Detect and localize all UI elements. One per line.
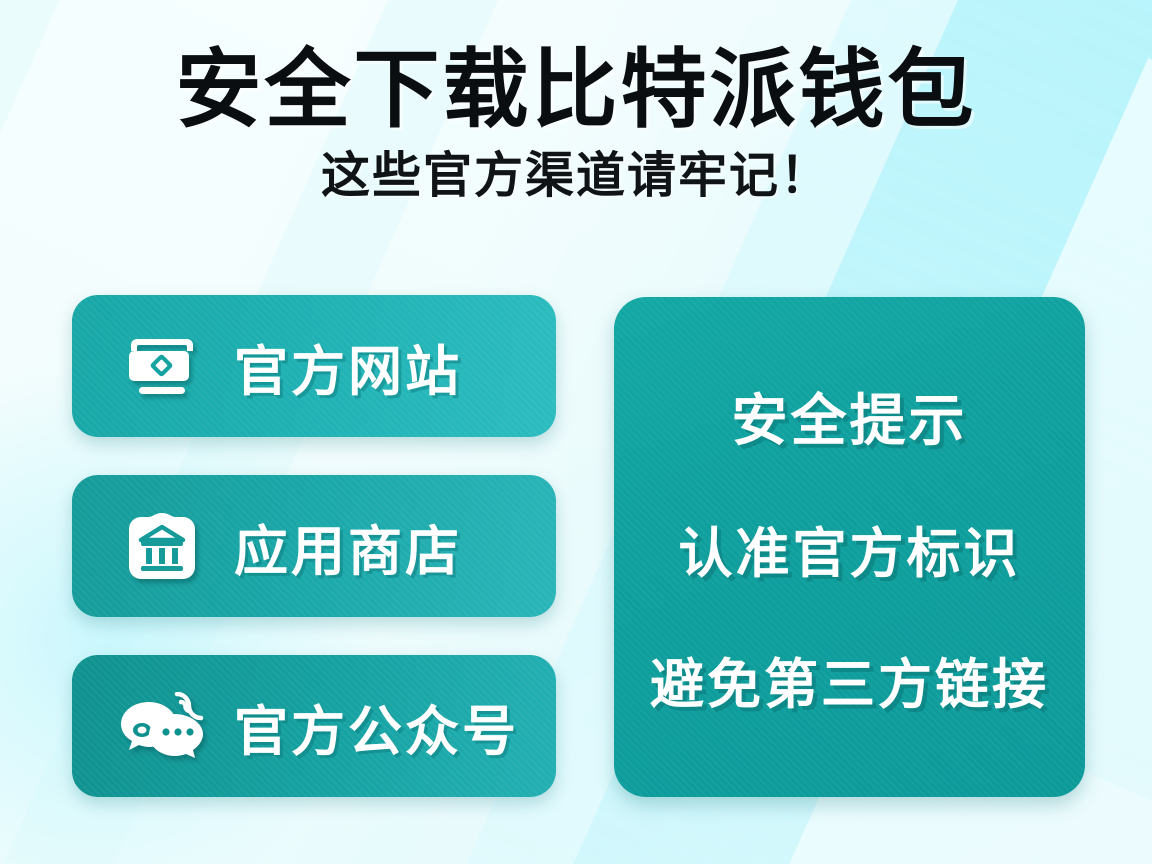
- security-tips-panel: 安全提示 认准官方标识 避免第三方链接: [614, 297, 1085, 797]
- page-title: 安全下载比特派钱包: [0, 46, 1152, 135]
- poster-content: 官方网站 应用商店: [0, 295, 1152, 800]
- channel-card-app-store[interactable]: 应用商店: [72, 475, 556, 617]
- official-channel-list: 官方网站 应用商店: [72, 295, 556, 797]
- poster-canvas: 安全下载比特派钱包 这些官方渠道请牢记！ 官方网站: [0, 0, 1152, 864]
- poster-header: 安全下载比特派钱包 这些官方渠道请牢记！: [0, 46, 1152, 203]
- official-website-icon: [116, 335, 208, 397]
- security-tip-line-2: 避免第三方链接: [650, 640, 1049, 719]
- channel-label: 应用商店: [234, 507, 462, 586]
- channel-label: 官方网站: [234, 327, 462, 406]
- page-subtitle: 这些官方渠道请牢记！: [0, 149, 1152, 203]
- channel-card-wechat-official-account[interactable]: 官方公众号: [72, 655, 556, 797]
- channel-label: 官方公众号: [234, 687, 519, 766]
- wechat-official-account-icon: [116, 692, 208, 760]
- security-tip-line-1: 认准官方标识: [679, 509, 1021, 588]
- security-tips-heading: 安全提示: [732, 376, 968, 457]
- channel-card-official-website[interactable]: 官方网站: [72, 295, 556, 437]
- app-store-icon: [116, 511, 208, 581]
